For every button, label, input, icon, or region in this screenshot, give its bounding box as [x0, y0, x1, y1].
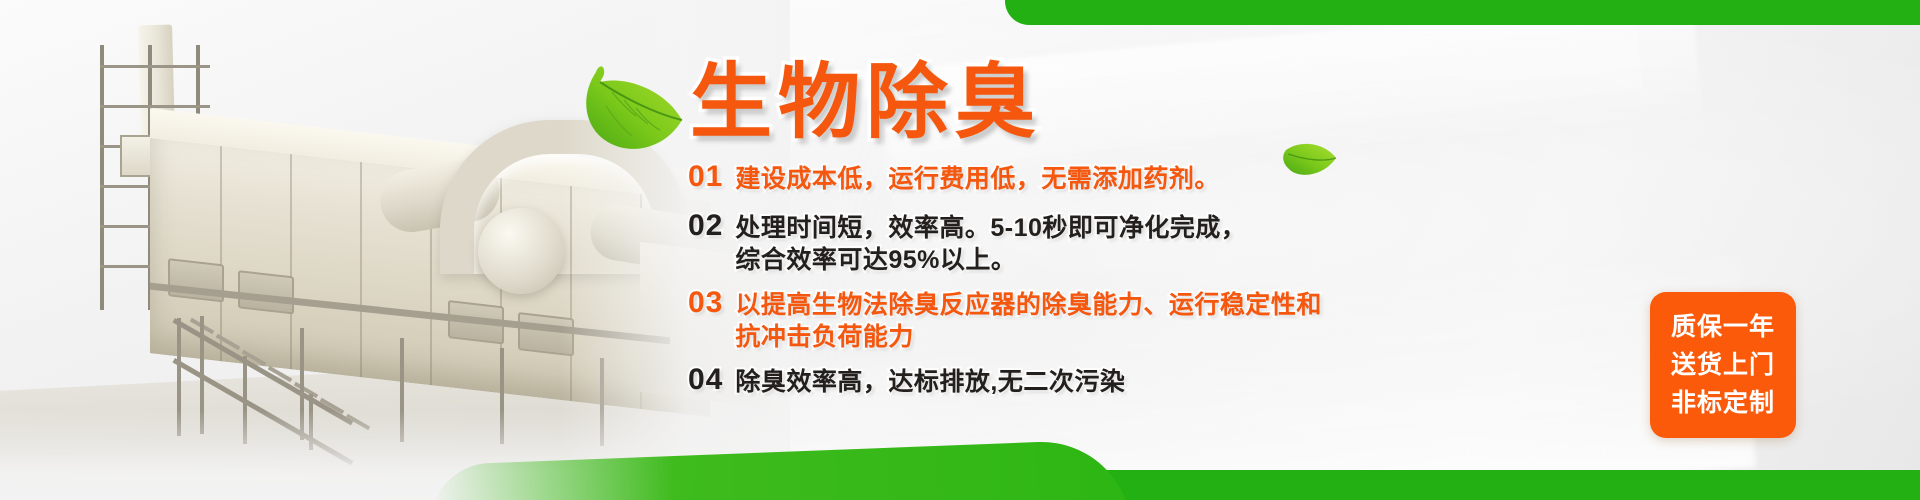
feature-text: 除臭效率高，达标排放,无二次污染	[735, 363, 1125, 398]
feature-number: 04	[688, 363, 723, 398]
product-photo-scene	[0, 0, 790, 500]
guarantee-badge: 质保一年 送货上门 非标定制	[1650, 292, 1796, 438]
badge-line-custom: 非标定制	[1671, 384, 1775, 422]
feature-item-03: 03 以提高生物法除臭反应器的除臭能力、运行稳定性和 抗冲击负荷能力	[688, 286, 1648, 353]
feature-item-01: 01 建设成本低，运行费用低，无需添加药剂。	[688, 160, 1648, 195]
green-bar-top	[1005, 0, 1920, 25]
feature-item-04: 04 除臭效率高，达标排放,无二次污染	[688, 363, 1648, 398]
feature-list: 01 建设成本低，运行费用低，无需添加药剂。 02 处理时间短，效率高。5-10…	[688, 160, 1648, 398]
promo-banner: 生物除臭 01 建设成本低，运行费用低，无需添加药剂。 02 处理时间短，效率高…	[0, 0, 1920, 500]
product-photo	[0, 0, 790, 500]
feature-text: 处理时间短，效率高。5-10秒即可净化完成， 综合效率可达95%以上。	[735, 209, 1246, 276]
green-bar-bottom	[1005, 470, 1920, 500]
feature-number: 01	[688, 160, 723, 195]
duct-flange-disc	[478, 208, 564, 294]
feature-item-02: 02 处理时间短，效率高。5-10秒即可净化完成， 综合效率可达95%以上。	[688, 209, 1648, 276]
feature-text: 建设成本低，运行费用低，无需添加药剂。	[735, 160, 1220, 195]
feature-text: 以提高生物法除臭反应器的除臭能力、运行稳定性和 抗冲击负荷能力	[735, 286, 1322, 353]
feature-number: 02	[688, 209, 723, 244]
page-title: 生物除臭	[690, 58, 1042, 148]
badge-line-delivery: 送货上门	[1671, 346, 1775, 384]
feature-number: 03	[688, 286, 723, 321]
badge-line-warranty: 质保一年	[1671, 308, 1775, 346]
